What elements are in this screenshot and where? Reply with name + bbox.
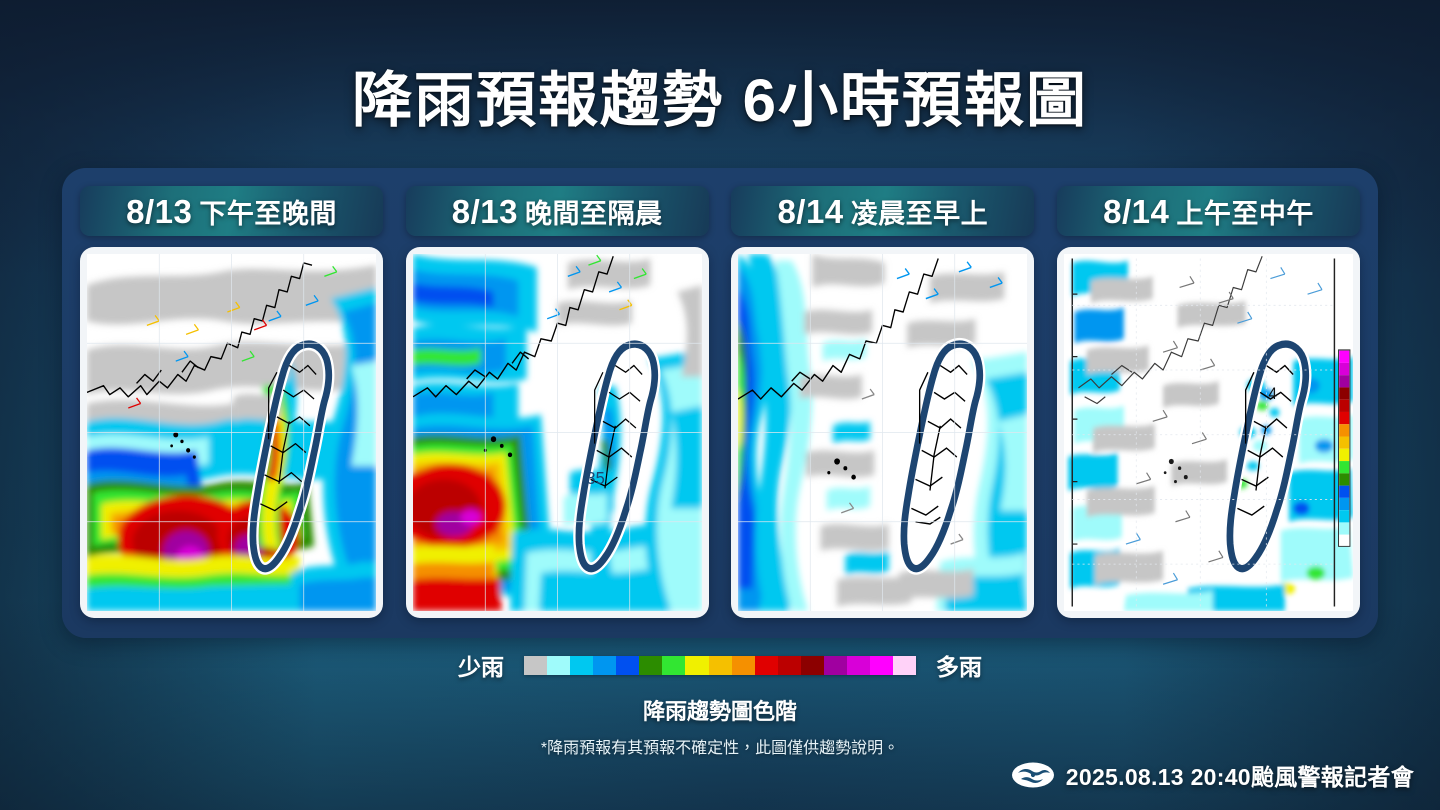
map-2-value-label: 35	[586, 467, 604, 488]
legend-swatch-13	[824, 656, 847, 675]
map-4-colorbar	[1339, 350, 1350, 546]
panel-1-timespan: 下午至晚間	[199, 192, 337, 231]
rainfall-forecast-map-1	[87, 254, 376, 611]
panel-3-header: 8/14 凌晨至早上	[731, 186, 1034, 236]
legend-swatch-15	[870, 656, 893, 675]
rainfall-map-4-svg: 4	[1064, 254, 1353, 611]
panel-2-date: 8/13	[452, 193, 518, 231]
legend-swatch-2	[570, 656, 593, 675]
legend-swatch-8	[709, 656, 732, 675]
map-4-value-label: 4	[1268, 384, 1277, 403]
panel-3-map-card[interactable]	[731, 247, 1034, 618]
rainfall-forecast-map-4: 4	[1064, 254, 1353, 611]
cwa-logo	[1011, 760, 1055, 790]
legend-swatch-3	[593, 656, 616, 675]
page-title: 降雨預報趨勢 6小時預報圖	[0, 66, 1440, 137]
legend-swatch-0	[524, 656, 547, 675]
forecast-panel-3[interactable]: 8/14 凌晨至早上	[731, 186, 1034, 618]
legend-low-label: 少雨	[458, 648, 504, 682]
panel-2-timespan: 晚間至隔晨	[525, 192, 663, 231]
forecast-panel-1[interactable]: 8/13 下午至晚間	[80, 186, 383, 618]
legend-caption: 降雨趨勢圖色階	[643, 694, 797, 726]
legend-swatch-1	[547, 656, 570, 675]
panel-4-timespan: 上午至中午	[1176, 192, 1314, 231]
legend-swatch-5	[639, 656, 662, 675]
footer: 2025.08.13 20:40颱風警報記者會	[1011, 758, 1414, 792]
rainfall-map-2-svg: 35	[413, 254, 702, 611]
forecast-panel-4[interactable]: 8/14 上午至中午	[1057, 186, 1360, 618]
legend-high-label: 多雨	[936, 648, 982, 682]
panel-2-header: 8/13 晚間至隔晨	[406, 186, 709, 236]
rainfall-forecast-map-2: 35	[413, 254, 702, 611]
rainfall-forecast-map-3	[738, 254, 1027, 611]
legend-scale-row: 少雨 多雨	[458, 648, 982, 682]
slide-root: 降雨預報趨勢 6小時預報圖 8/13 下午至晚間	[0, 0, 1440, 810]
legend: 少雨 多雨 降雨趨勢圖色階 *降雨預報有其預報不確定性，此圖僅供趨勢說明。	[0, 648, 1440, 758]
legend-swatch-9	[732, 656, 755, 675]
panel-2-map-card[interactable]: 35	[406, 247, 709, 618]
panel-3-timespan: 凌晨至早上	[851, 192, 989, 231]
legend-colorbar	[524, 656, 916, 675]
rainfall-map-1-svg	[87, 254, 376, 611]
legend-swatch-14	[847, 656, 870, 675]
legend-swatch-7	[685, 656, 708, 675]
panel-1-header: 8/13 下午至晚間	[80, 186, 383, 236]
panel-1-map-card[interactable]	[80, 247, 383, 618]
panel-4-date: 8/14	[1103, 193, 1169, 231]
legend-note: *降雨預報有其預報不確定性，此圖僅供趨勢說明。	[541, 734, 899, 758]
legend-swatch-12	[801, 656, 824, 675]
panel-4-map-card[interactable]: 4	[1057, 247, 1360, 618]
panel-1-date: 8/13	[126, 193, 192, 231]
panel-3-date: 8/14	[777, 193, 843, 231]
rainfall-map-3-svg	[738, 254, 1027, 611]
forecast-panel-list: 8/13 下午至晚間	[62, 168, 1378, 638]
legend-swatch-6	[662, 656, 685, 675]
forecast-panel-2[interactable]: 8/13 晚間至隔晨	[406, 186, 709, 618]
legend-swatch-4	[616, 656, 639, 675]
panel-4-header: 8/14 上午至中午	[1057, 186, 1360, 236]
legend-swatch-16	[893, 656, 916, 675]
legend-swatch-10	[755, 656, 778, 675]
legend-swatch-11	[778, 656, 801, 675]
footer-text: 2025.08.13 20:40颱風警報記者會	[1066, 758, 1414, 792]
forecast-board: 8/13 下午至晚間	[62, 168, 1378, 638]
